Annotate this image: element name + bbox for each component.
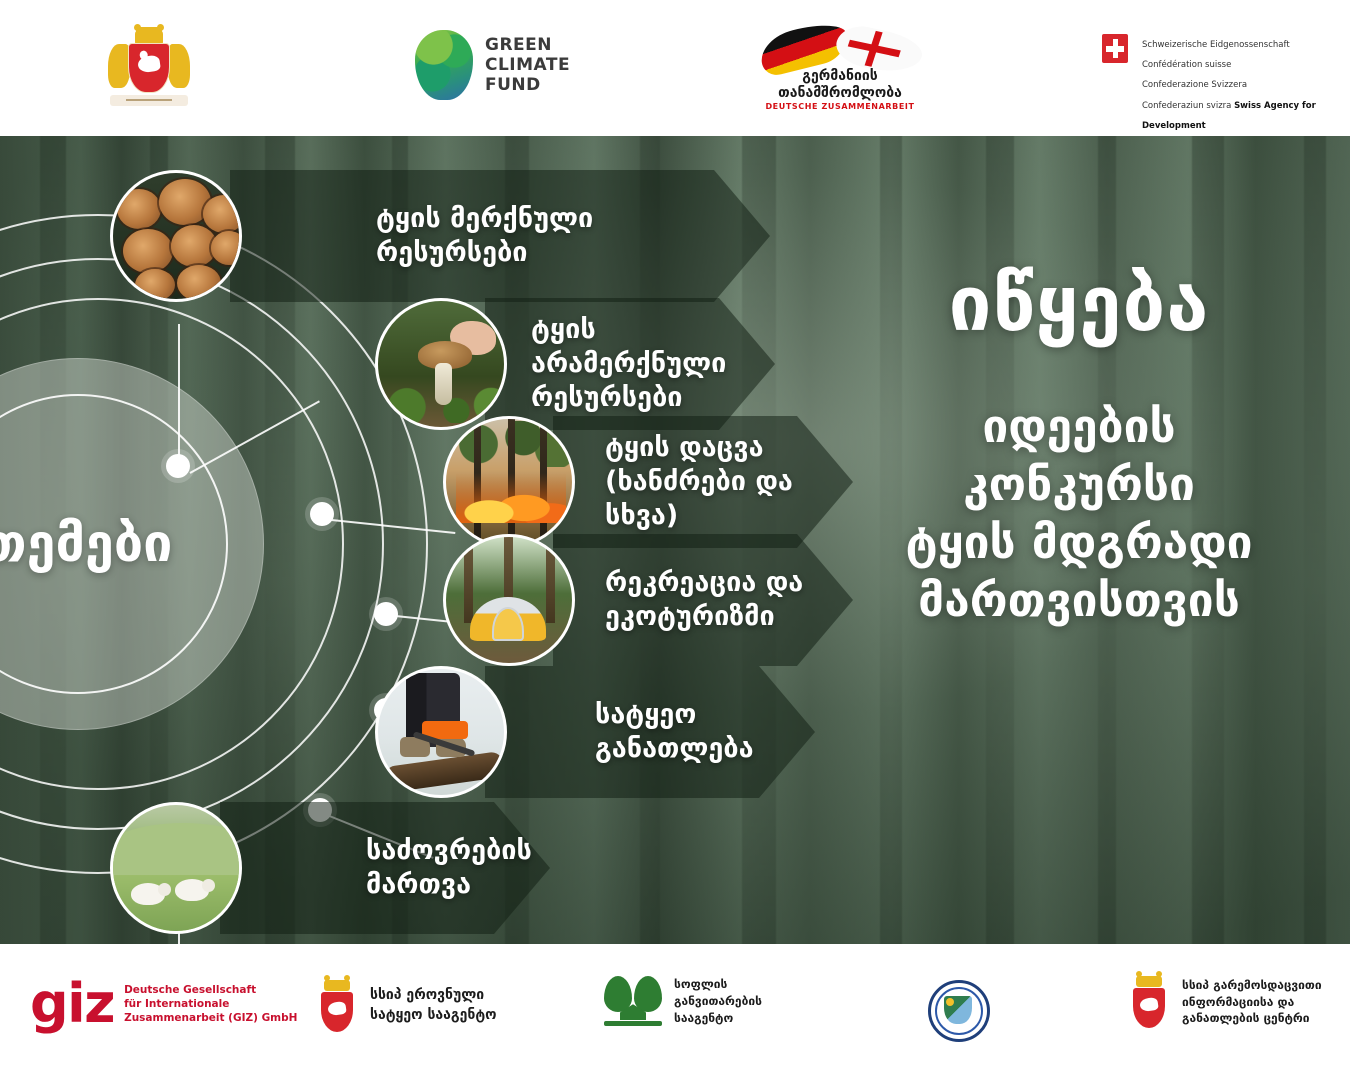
subheadline-line-3: ტყის მდგრადი [844, 514, 1314, 572]
sdc-lang-1: Schweizerische Eidgenossenschaft [1142, 40, 1290, 50]
poster-root: GREEN CLIMATE FUND გერმანიის თანამშრომლო… [0, 0, 1350, 1080]
sdc-lang-3: Confederazione Svizzera [1142, 80, 1247, 90]
topic-thumbnail-forest-fire [443, 416, 575, 548]
topic-label-6: საძოვრების მართვა [366, 834, 532, 902]
leaf-left-shape [604, 976, 632, 1012]
topic-label-3-line-1: ტყის დაცვა [605, 432, 764, 463]
giz-name-line-3: Zusammenarbeit (GIZ) GmbH [124, 1012, 297, 1024]
topic-label-5-line-1: სატყეო [595, 699, 696, 730]
ground-line-shape [604, 1021, 662, 1026]
campaign-text-block: იწყება იდეების კონკურსი ტყის მდგრადი მარ… [844, 266, 1314, 630]
german-cooperation-geo-text: გერმანიის თანამშრომლობა [750, 68, 930, 102]
topic-item-forest-protection[interactable]: ტყის დაცვა (ხანძრები და სხვა) [443, 416, 853, 548]
georgia-coat-of-arms-icon [106, 28, 192, 108]
subheadline-line-4: მართვისთვის [844, 572, 1314, 630]
gcf-line-2: CLIMATE [485, 55, 570, 75]
trees-house-icon [604, 976, 662, 1026]
topic-label-3-line-2: (ხანძრები და სხვა) [605, 466, 793, 531]
eiec-line-2: ინფორმაციისა და [1182, 995, 1294, 1009]
diagram-hub-label: თემები [0, 394, 228, 694]
gcf-line-1: GREEN [485, 35, 552, 55]
crown-small-shape-2 [1136, 976, 1162, 987]
diagram-node-1 [166, 454, 190, 478]
topic-label-2-line-2: რესურსები [531, 382, 683, 413]
st-george-rider-shape [137, 55, 161, 74]
coop-geo-line-1: გერმანიის [802, 68, 877, 84]
german-georgian-flag-ribbon-icon [760, 22, 930, 72]
logo-green-climate-fund: GREEN CLIMATE FUND [415, 30, 570, 100]
topic-label-5: სატყეო განათლება [595, 698, 754, 766]
footer-logo-bar: giz Deutsche Gesellschaft für Internatio… [0, 944, 1350, 1074]
topic-banner-3: ტყის დაცვა (ხანძრები და სხვა) [553, 416, 853, 548]
diagram-node-2 [310, 502, 334, 526]
logo-swiss-sdc: Schweizerische Eidgenossenschaft Confédé… [1102, 32, 1350, 151]
topic-label-4-line-2: ეკოტურიზმი [605, 601, 775, 632]
topic-banner-5: სატყეო განათლება [485, 666, 815, 798]
seal-shield-shape [944, 996, 972, 1024]
giz-fullname: Deutsche Gesellschaft für Internationale… [124, 983, 297, 1026]
georgia-coat-of-arms-small-icon-2 [1128, 976, 1170, 1028]
header-logo-bar: GREEN CLIMATE FUND გერმანიის თანამშრომლო… [0, 0, 1350, 136]
topic-label-3: ტყის დაცვა (ხანძრები და სხვა) [605, 431, 853, 532]
rda-line-1: სოფლის [674, 977, 727, 991]
crown-small-shape [324, 980, 350, 991]
coop-geo-line-2: თანამშრომლობა [778, 85, 902, 101]
topic-label-6-line-1: საძოვრების [366, 835, 532, 866]
topic-label-5-line-2: განათლება [595, 733, 754, 764]
topic-thumbnail-sheep-pasture [110, 802, 242, 934]
footer-logo-rural-development-agency: სოფლის განვითარების სააგენტო [604, 976, 762, 1026]
topic-item-timber-resources[interactable]: ტყის მერქნული რესურსები [110, 170, 770, 302]
logo-georgia-coat-of-arms [106, 28, 192, 108]
eiec-line-3: განათლების ცენტრი [1182, 1011, 1310, 1025]
sdc-text-block: Schweizerische Eidgenossenschaft Confédé… [1142, 32, 1350, 151]
shield-shape [128, 43, 170, 93]
crown-shape [135, 30, 163, 44]
gcf-line-3: FUND [485, 75, 541, 95]
sdc-lang-2: Confédération suisse [1142, 60, 1231, 70]
topic-label-2-line-1: ტყის არამერქნული [531, 314, 726, 379]
rda-line-3: სააგენტო [674, 1011, 733, 1025]
topic-label-2: ტყის არამერქნული რესურსები [531, 313, 775, 414]
footer-logo-environmental-info-education-center: სსიპ გარემოსდაცვითი ინფორმაციისა და განა… [1128, 976, 1322, 1028]
giz-wordmark: giz [30, 982, 114, 1026]
nfa-line-2: სატყეო სააგენტო [370, 1007, 497, 1023]
diagram-node-3 [374, 602, 398, 626]
giz-name-line-1: Deutsche Gesellschaft [124, 984, 256, 996]
rural-development-agency-name: სოფლის განვითარების სააგენტო [674, 976, 762, 1026]
topic-banner-6: საძოვრების მართვა [220, 802, 550, 934]
campaign-headline: იწყება [844, 266, 1314, 342]
main-visual-panel: თემები ტყის მერქნული რესურსები [0, 136, 1350, 944]
german-cooperation-latin-text: DEUTSCHE ZUSAMMENARBEIT [750, 102, 930, 111]
topic-banner-4: რეკრეაცია და ეკოტურიზმი [553, 534, 853, 666]
eiec-line-1: სსიპ გარემოსდაცვითი [1182, 978, 1322, 992]
lion-right-shape [168, 44, 190, 88]
motto-ribbon-shape [110, 95, 188, 106]
footer-logo-ministry-seal [928, 980, 990, 1042]
subheadline-line-1: იდეების [844, 398, 1314, 456]
campaign-subheadline: იდეების კონკურსი ტყის მდგრადი მართვისთვი… [844, 398, 1314, 630]
gcf-globe-icon [415, 30, 473, 100]
topic-banner-1: ტყის მერქნული რესურსები [230, 170, 770, 302]
swiss-cross-icon [1102, 34, 1128, 63]
topic-thumbnail-mushroom [375, 298, 507, 430]
sdc-lang-4: Confederaziun svizra [1142, 101, 1231, 111]
footer-logo-giz: giz Deutsche Gesellschaft für Internatio… [30, 982, 297, 1026]
footer-logo-national-forestry-agency: სსიპ ეროვნული სატყეო სააგენტო [316, 980, 497, 1032]
topic-item-pasture-management[interactable]: საძოვრების მართვა [110, 802, 550, 934]
nfa-line-1: სსიპ ეროვნული [370, 987, 484, 1003]
topic-label-4-line-1: რეკრეაცია და [605, 567, 803, 598]
gcf-wordmark: GREEN CLIMATE FUND [485, 35, 570, 95]
topic-label-1: ტყის მერქნული რესურსები [376, 202, 593, 270]
topic-banner-2: ტყის არამერქნული რესურსები [485, 298, 775, 430]
topic-label-1-line-2: რესურსები [376, 237, 528, 268]
topic-thumbnail-chainsaw [375, 666, 507, 798]
national-forestry-agency-name: სსიპ ეროვნული სატყეო სააგენტო [370, 986, 497, 1025]
leaf-right-shape [634, 976, 662, 1012]
environmental-center-name: სსიპ გარემოსდაცვითი ინფორმაციისა და განა… [1182, 977, 1322, 1027]
topic-label-4: რეკრეაცია და ეკოტურიზმი [605, 566, 803, 634]
subheadline-line-2: კონკურსი [844, 456, 1314, 514]
georgia-coat-of-arms-small-icon [316, 980, 358, 1032]
giz-name-line-2: für Internationale [124, 998, 229, 1010]
topic-item-forestry-education[interactable]: სატყეო განათლება [375, 666, 815, 798]
topic-label-6-line-2: მართვა [366, 869, 471, 900]
topic-item-recreation-ecotourism[interactable]: რეკრეაცია და ეკოტურიზმი [443, 534, 853, 666]
topic-thumbnail-stacked-logs [110, 170, 242, 302]
lion-left-shape [108, 44, 130, 88]
connector-line-1 [178, 324, 180, 466]
topic-item-non-timber-resources[interactable]: ტყის არამერქნული რესურსები [375, 298, 775, 430]
topic-label-1-line-1: ტყის მერქნული [376, 203, 593, 234]
logo-german-cooperation: გერმანიის თანამშრომლობა DEUTSCHE ZUSAMME… [748, 22, 933, 114]
rda-line-2: განვითარების [674, 994, 762, 1008]
topic-thumbnail-camping-tent [443, 534, 575, 666]
ministry-seal-icon [928, 980, 990, 1042]
